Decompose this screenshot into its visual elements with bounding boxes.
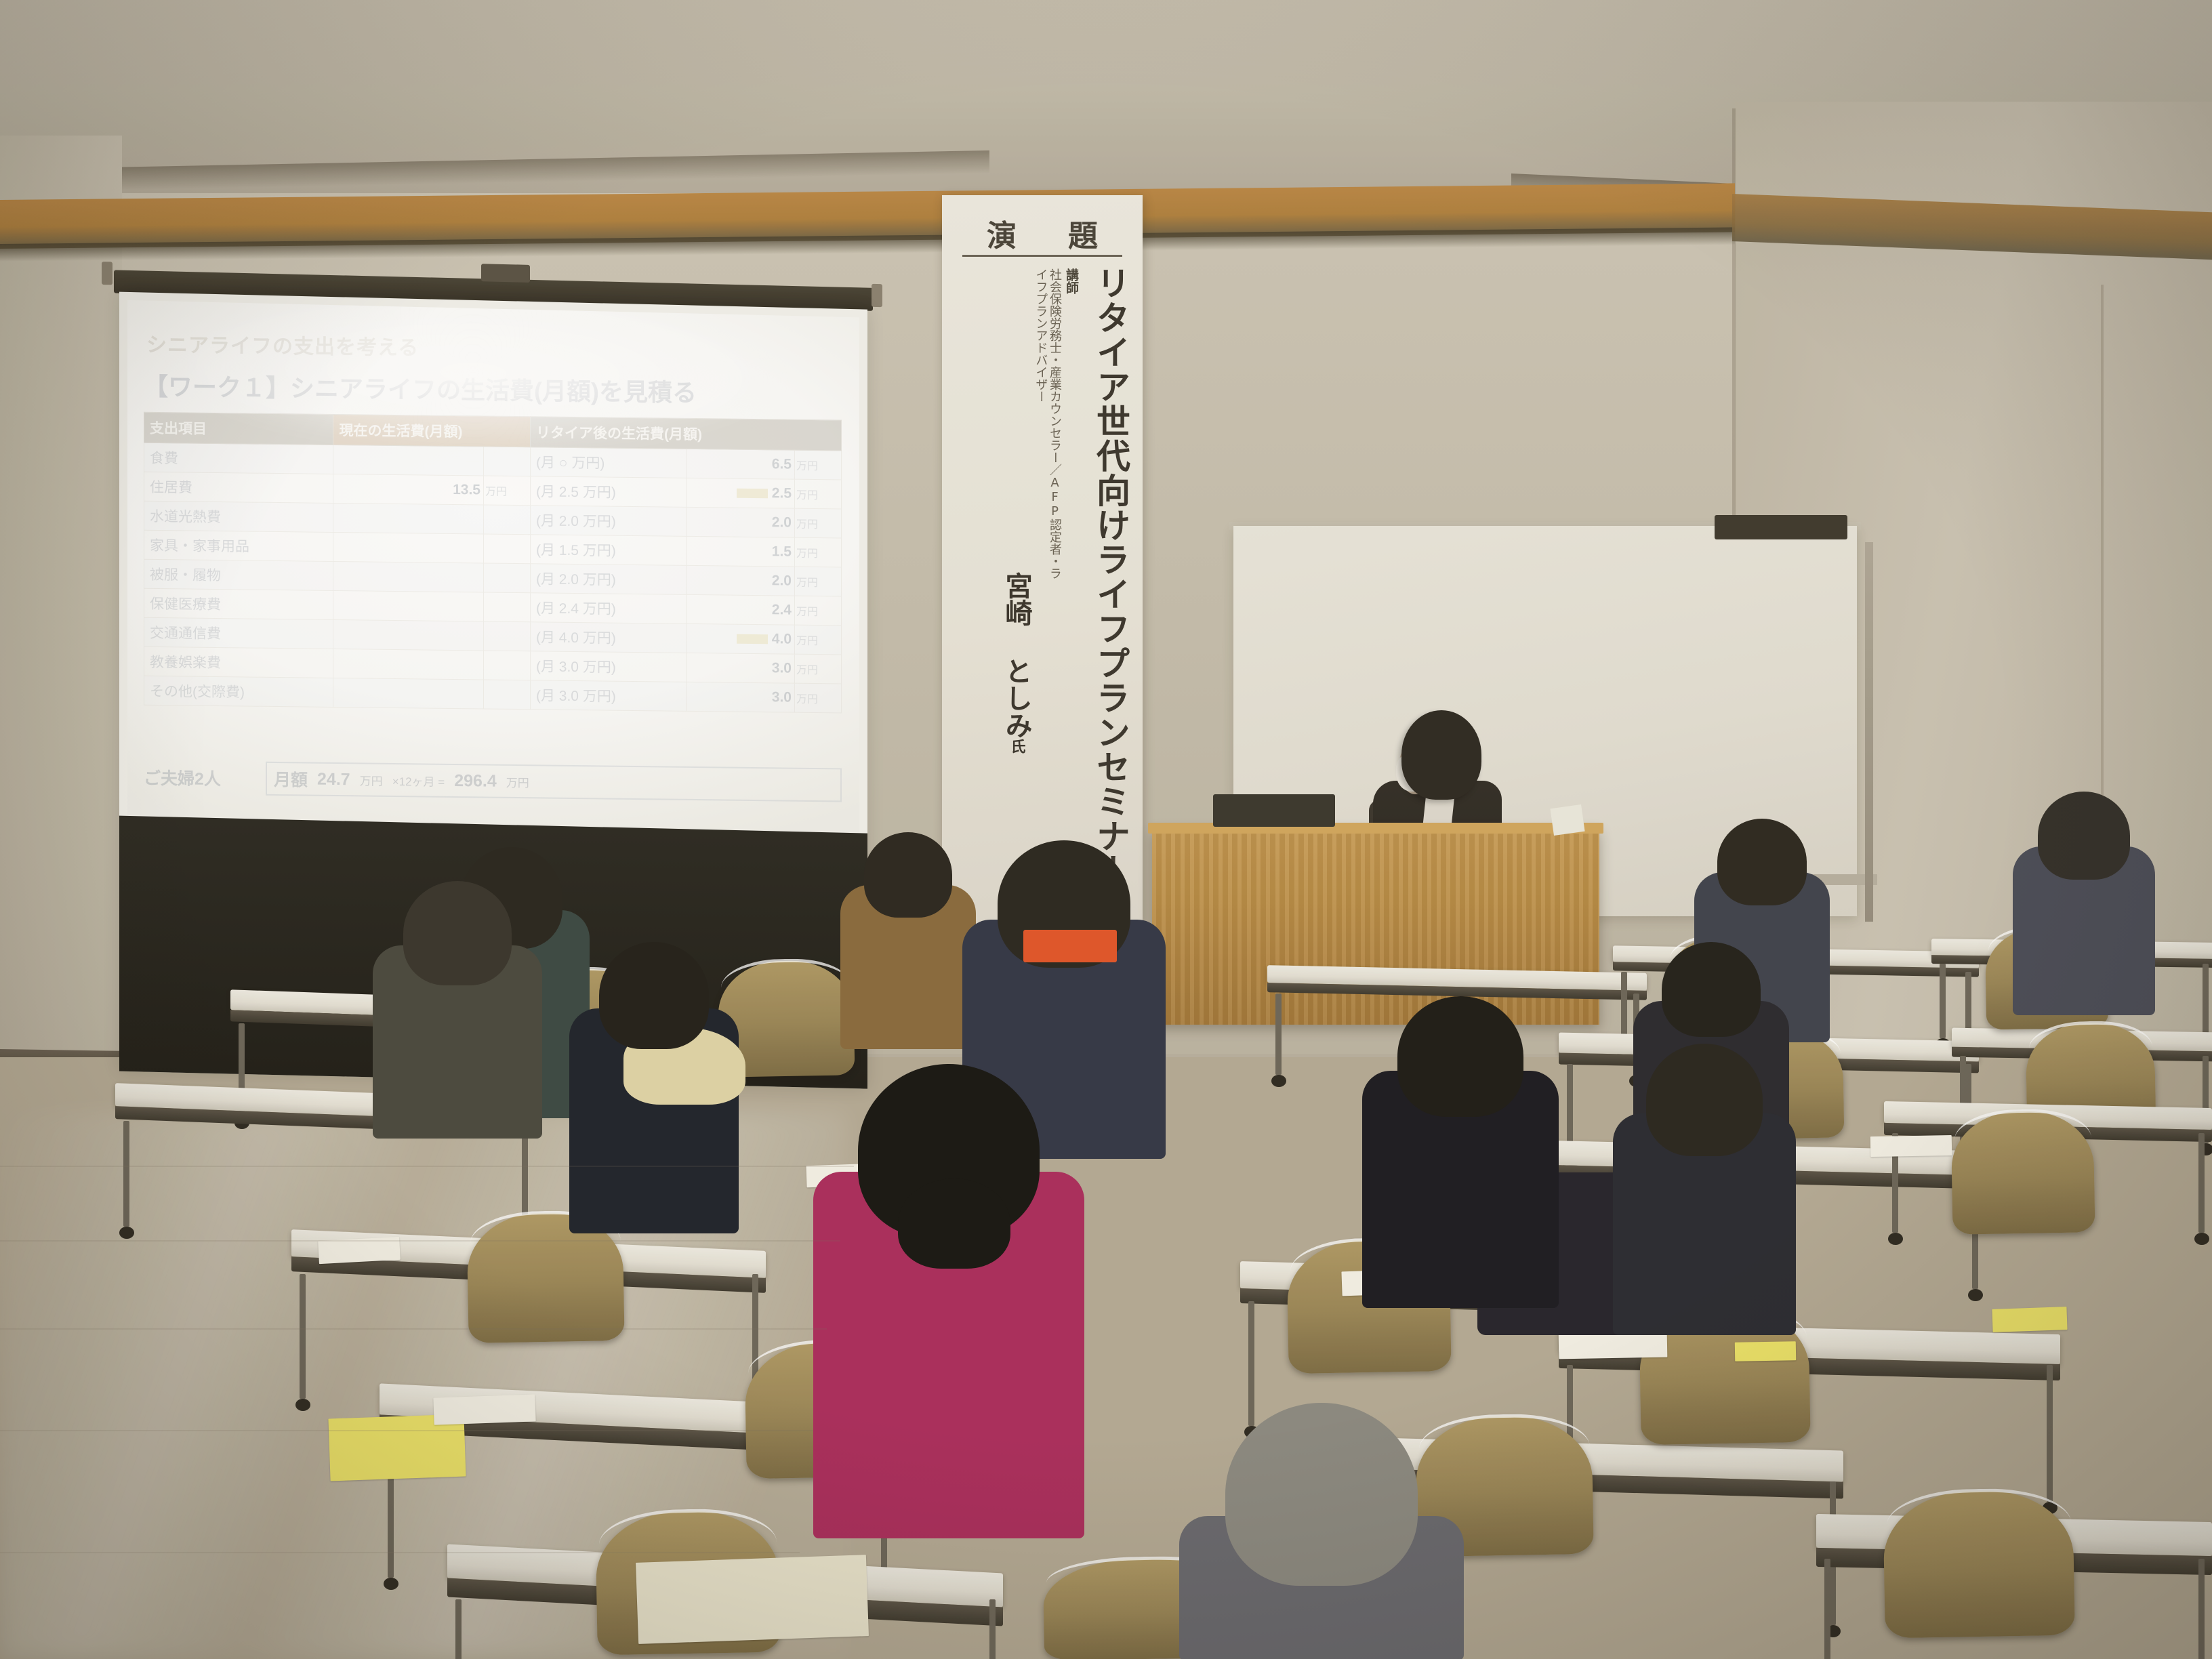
attendee-head [403, 881, 512, 985]
cell-current-unit [483, 621, 530, 651]
screen-bracket-left [102, 262, 112, 285]
cell-retire-unit: 万円 [795, 450, 842, 480]
paper-on-desk [636, 1555, 869, 1644]
cell-current-unit [483, 680, 530, 710]
attendee [373, 881, 542, 1139]
attendee [813, 1064, 1084, 1538]
cell-current-unit [483, 534, 530, 564]
paper-on-desk [1559, 1332, 1668, 1359]
cell-retire: 2.4 [686, 594, 794, 625]
cell-retire: 2.0 [686, 507, 794, 537]
desk-leg [2198, 1559, 2205, 1659]
desk-caster [295, 1399, 310, 1411]
cell-current [333, 532, 484, 563]
banner-columns: リタイア世代向けライフプランセミナー 講師 社会保険労務士・産業カウンセラー／A… [954, 266, 1132, 909]
cell-note: (月 2.0 万円) [530, 506, 686, 537]
banner-divider [962, 255, 1122, 257]
highlight-chip [737, 634, 768, 644]
cell-retire-unit: 万円 [795, 508, 842, 538]
cell-retire: 2.5 [686, 478, 794, 508]
cell-current [333, 649, 484, 680]
desk-caster [384, 1578, 398, 1590]
desk-leg [1824, 1559, 1830, 1659]
total-annual-unit: 万円 [506, 773, 529, 790]
desk-caster [1968, 1289, 1983, 1301]
attendee-head [599, 942, 709, 1049]
cell-current-unit [483, 651, 530, 680]
cell-current [333, 561, 484, 592]
cell-current-unit [483, 505, 530, 535]
attendee [2013, 792, 2155, 1015]
cell-current [333, 503, 484, 534]
total-monthly-value: 24.7 [317, 769, 350, 790]
attendee [840, 832, 976, 1049]
paper-on-desk [1870, 1135, 1952, 1157]
speaker-hair [1401, 710, 1481, 800]
hoodie-graphic [1023, 930, 1117, 963]
cell-retire-unit: 万円 [795, 596, 842, 626]
cell-retire: 3.0 [686, 682, 794, 712]
desk-caster [1888, 1233, 1903, 1245]
projector-glare [168, 300, 778, 458]
desk-leg [1275, 994, 1282, 1075]
desk-leg [2198, 1133, 2205, 1233]
total-period-label: 月額 [274, 766, 308, 792]
screen-ceiling-mount [481, 264, 530, 283]
desk-leg [2203, 964, 2209, 1038]
projected-slide: シニアライフの支出を考える 【ワーク１】シニアライフの生活費(月額)を見積る 支… [127, 300, 859, 832]
cell-note: (月 2.5 万円) [530, 476, 686, 508]
banner-credentials: 社会保険労務士・産業カウンセラー／AFP認定者・ライフプランアドバイザー [1033, 268, 1061, 587]
cell-retire: 2.0 [686, 565, 794, 596]
desk-leg [123, 1121, 129, 1227]
cell-item: 家具・家事用品 [144, 530, 333, 561]
desk-leg [2047, 1365, 2053, 1502]
desk-leg [300, 1274, 306, 1399]
whiteboard-side-rail [1865, 542, 1873, 922]
screen-bracket-right [872, 284, 882, 307]
desk-leg [1940, 964, 1946, 1038]
chair-backrest-rim [2028, 1020, 2152, 1080]
chair-backrest-rim [1886, 1488, 2072, 1568]
floor-tile-seam [0, 1328, 827, 1330]
total-box: 月額 24.7 万円 ×12ヶ月 = 296.4 万円 [266, 762, 842, 802]
attendee-head [1646, 1044, 1763, 1156]
attendee-head [1225, 1403, 1418, 1586]
cell-note: (月 3.0 万円) [530, 680, 686, 712]
attendee-head [1662, 942, 1761, 1037]
desk-leg [989, 1599, 996, 1659]
attendee-head [1717, 819, 1807, 905]
cell-note: (月 2.4 万円) [530, 593, 686, 624]
attendee-hair-bun [898, 1179, 1010, 1269]
desk-caster [119, 1227, 134, 1239]
attendee-head [864, 832, 952, 918]
total-multiplier: ×12ヶ月 = [392, 771, 445, 789]
paper-on-desk [433, 1394, 535, 1425]
attendee-head [1397, 996, 1523, 1117]
total-monthly-unit: 万円 [360, 771, 383, 788]
cell-current [333, 678, 484, 709]
banner-header-char-1: 演 [987, 211, 1017, 255]
chair-backrest-rim [720, 958, 852, 1021]
attendee [1362, 996, 1559, 1308]
cell-note: (月 2.0 万円) [530, 564, 686, 595]
cell-retire: 3.0 [686, 653, 794, 683]
highlight-chip [737, 489, 768, 499]
banner-header: 演 題 [961, 211, 1124, 255]
podium-paper [1550, 804, 1584, 836]
attendee [1613, 1044, 1796, 1335]
paper-on-desk [1735, 1341, 1796, 1361]
attendee-head [2038, 792, 2130, 880]
banner-role-label: 講師 [1063, 268, 1081, 308]
seminar-room-photo: シニアライフの支出を考える 【ワーク１】シニアライフの生活費(月額)を見積る 支… [0, 0, 2212, 1659]
cell-note: (月 4.0 万円) [530, 622, 686, 653]
cell-retire-unit: 万円 [795, 654, 842, 684]
paper-on-desk [1992, 1307, 2067, 1332]
desk-leg [455, 1599, 462, 1659]
attendee [569, 942, 739, 1233]
floor-tile-seam [0, 1552, 800, 1553]
cell-item: 教養娯楽費 [144, 647, 333, 678]
total-household-label: ご夫婦2人 [144, 765, 266, 791]
cell-note: (月 1.5 万円) [530, 535, 686, 566]
cell-retire-unit: 万円 [795, 479, 842, 509]
cell-current-unit: 万円 [483, 476, 530, 506]
floor-tile-seam [0, 1166, 854, 1167]
seminar-title-banner: 演 題 リタイア世代向けライフプランセミナー 講師 社会保険労務士・産業カウンセ… [942, 195, 1143, 924]
cell-current-unit [483, 563, 530, 593]
cell-retire: 4.0 [686, 623, 794, 654]
cell-current: 13.5 [333, 474, 484, 505]
cell-note: (月 3.0 万円) [530, 651, 686, 682]
total-annual-value: 296.4 [454, 771, 497, 791]
floor-tile-seam [0, 1240, 840, 1242]
banner-header-char-2: 題 [1068, 211, 1098, 255]
desk-caster [1271, 1075, 1286, 1087]
cell-item: 住居費 [144, 472, 333, 503]
slide-table: 支出項目 現在の生活費(月額) リタイア後の生活費(月額) 食費(月 ○ 万円)… [144, 412, 842, 714]
desk-caster [2194, 1233, 2209, 1245]
cell-item: 保健医療費 [144, 588, 333, 619]
cell-retire-unit: 万円 [795, 537, 842, 567]
banner-speaker-block: 講師 社会保険労務士・産業カウンセラー／AFP認定者・ライフプランアドバイザー … [1002, 268, 1081, 754]
chair-backrest-rim [1954, 1108, 2092, 1175]
cell-item: 交通通信費 [144, 617, 333, 649]
banner-speaker-name: 宮崎 としみ氏 [1002, 572, 1031, 754]
cell-item: 食費 [144, 443, 333, 474]
attendee [1179, 1403, 1464, 1659]
cell-item: 水道光熱費 [144, 501, 333, 532]
cell-current [333, 619, 484, 651]
cell-retire-unit: 万円 [795, 567, 842, 596]
wall-mounted-box [1715, 515, 1847, 539]
cell-retire: 1.5 [686, 536, 794, 567]
speaker-name-text: 宮崎 としみ [1001, 572, 1032, 739]
cell-current [333, 590, 484, 621]
podium-laptop [1213, 794, 1335, 827]
floor-tile-seam [0, 1430, 813, 1431]
cell-item: 被服・履物 [144, 559, 333, 590]
cell-retire-unit: 万円 [795, 625, 842, 655]
slide-total-row: ご夫婦2人 月額 24.7 万円 ×12ヶ月 = 296.4 万円 [144, 760, 842, 802]
cell-current-unit [483, 592, 530, 622]
banner-title-text: リタイア世代向けライフプランセミナー [1093, 266, 1128, 903]
cell-retire-unit: 万円 [795, 683, 842, 713]
cell-item: その他(交際費) [144, 676, 333, 707]
speaker-name-suffix: 氏 [1008, 739, 1025, 754]
